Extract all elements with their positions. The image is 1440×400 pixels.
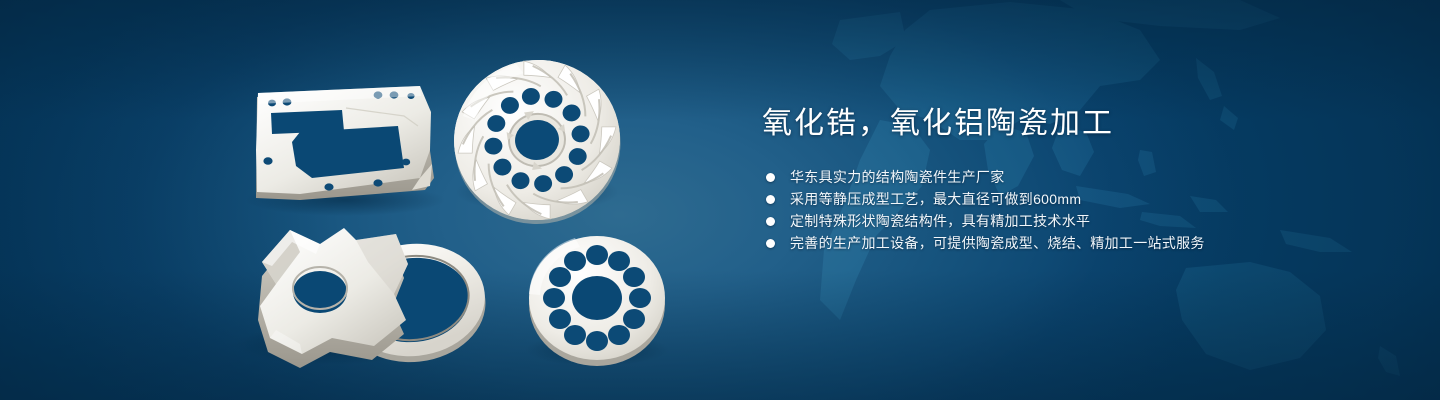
feature-item: 华东具实力的结构陶瓷件生产厂家 xyxy=(766,170,1402,185)
ceramic-flat-plate xyxy=(256,86,434,200)
ceramic-cross-plate xyxy=(258,228,408,368)
feature-text: 定制特殊形状陶瓷结构件，具有精加工技术水平 xyxy=(790,213,1090,229)
bullet-dot-icon xyxy=(766,173,775,182)
feature-item: 采用等静压成型工艺，最大直径可做到600mm xyxy=(766,192,1402,207)
feature-text: 采用等静压成型工艺，最大直径可做到600mm xyxy=(790,191,1081,207)
bullet-dot-icon xyxy=(766,195,775,204)
bullet-dot-icon xyxy=(766,217,775,226)
feature-text: 完善的生产加工设备，可提供陶瓷成型、烧结、精加工一站式服务 xyxy=(790,235,1205,251)
hero-banner: 氧化锆，氧化铝陶瓷加工 华东具实力的结构陶瓷件生产厂家 采用等静压成型工艺，最大… xyxy=(0,0,1440,400)
banner-copy: 氧化锆，氧化铝陶瓷加工 华东具实力的结构陶瓷件生产厂家 采用等静压成型工艺，最大… xyxy=(762,104,1402,258)
feature-text: 华东具实力的结构陶瓷件生产厂家 xyxy=(790,169,1005,185)
ceramic-impeller-disc xyxy=(443,47,630,235)
feature-item: 完善的生产加工设备，可提供陶瓷成型、烧结、精加工一站式服务 xyxy=(766,236,1402,251)
bullet-dot-icon xyxy=(766,239,775,248)
banner-headline: 氧化锆，氧化铝陶瓷加工 xyxy=(762,104,1402,144)
feature-list: 华东具实力的结构陶瓷件生产厂家 采用等静压成型工艺，最大直径可做到600mm 定… xyxy=(766,170,1402,251)
feature-item: 定制特殊形状陶瓷结构件，具有精加工技术水平 xyxy=(766,214,1402,229)
ceramic-holed-disc xyxy=(529,236,665,366)
product-images xyxy=(0,0,720,400)
